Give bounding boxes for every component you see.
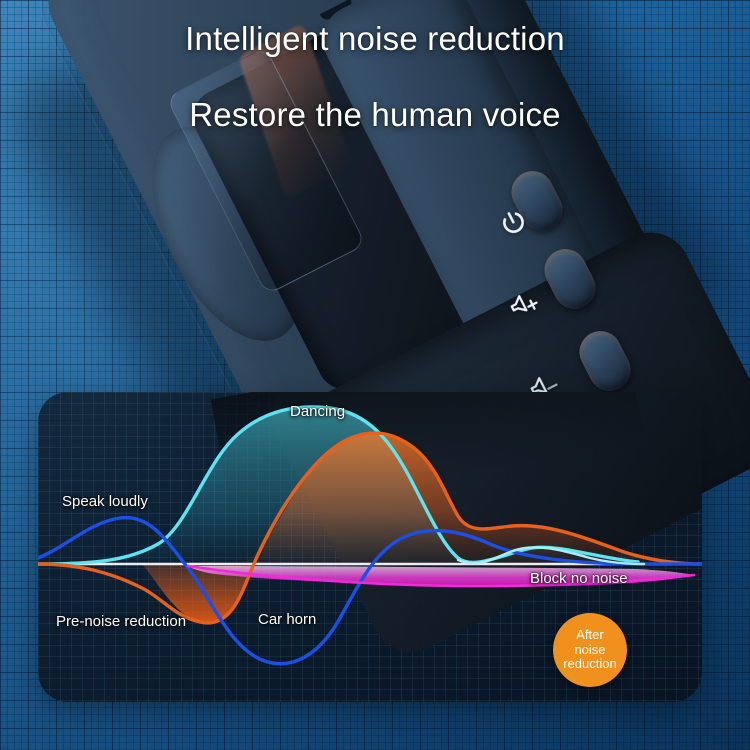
label-pre-noise-reduction: Pre-noise reduction <box>56 613 186 630</box>
headline-line-2: Restore the human voice <box>0 96 750 134</box>
badge-line-1: After <box>576 628 603 643</box>
label-car-horn: Car horn <box>258 611 316 628</box>
badge-line-2: noise <box>574 643 605 658</box>
label-dancing: Dancing <box>290 403 345 420</box>
label-block-no-noise: Block no noise <box>530 570 628 587</box>
badge-line-3: reduction <box>563 657 616 672</box>
marketing-banner: Intelligent noise reduction Restore the … <box>0 0 750 750</box>
label-speak-loudly: Speak loudly <box>62 493 148 510</box>
after-noise-reduction-badge: After noise reduction <box>553 613 627 687</box>
headline-line-1: Intelligent noise reduction <box>0 20 750 58</box>
